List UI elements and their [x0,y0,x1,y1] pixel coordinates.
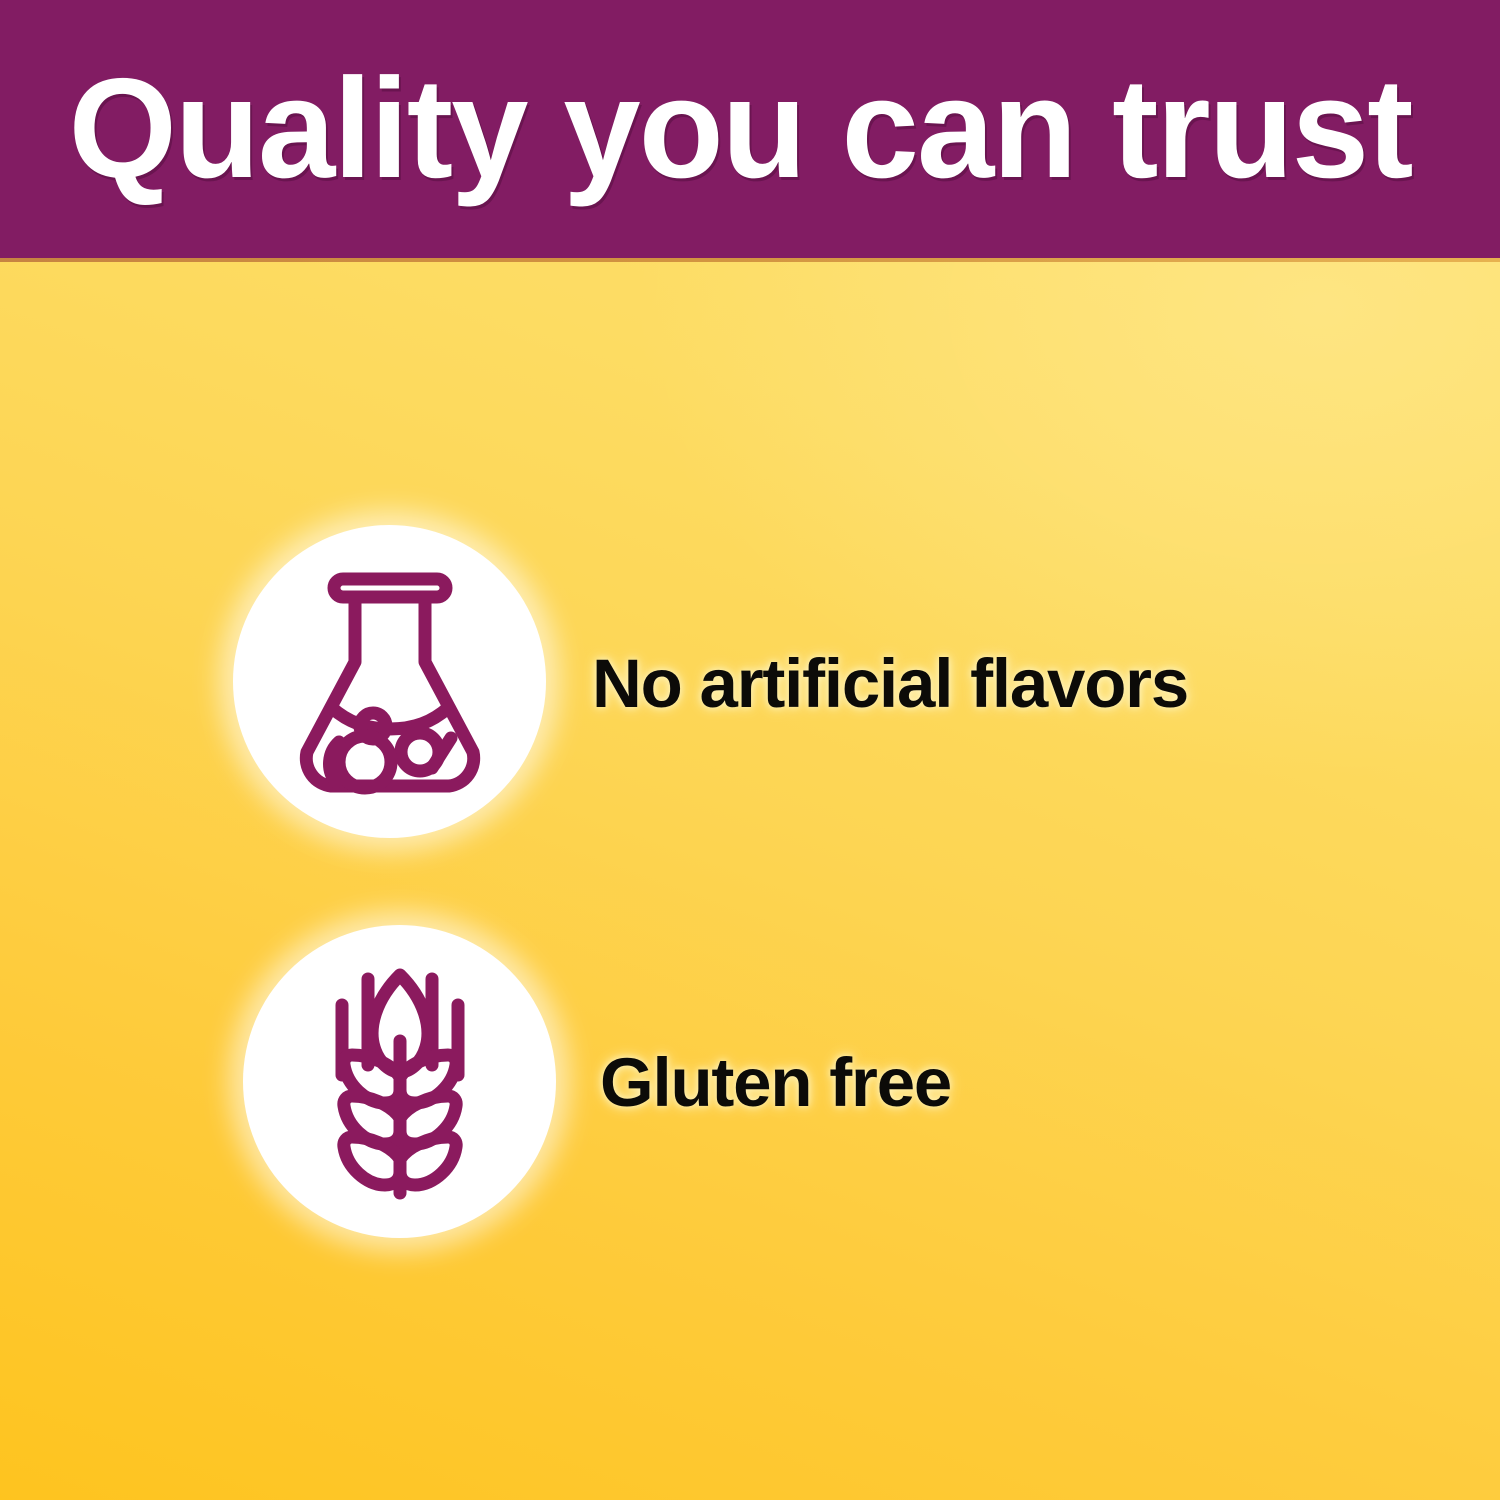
icon-badge [243,925,556,1238]
feature-label: No artificial flavors [592,649,1188,718]
wheat-icon [307,957,493,1207]
flask-icon [285,566,495,798]
quality-claims-poster: Quality you can trust [0,0,1500,1500]
feature-list: No artificial flavors [0,258,1500,1500]
feature-label: Gluten free [600,1048,951,1117]
page-title: Quality you can trust [0,58,1412,200]
feature-item-no-artificial-flavors: No artificial flavors [233,525,1188,838]
header-band: Quality you can trust [0,0,1500,258]
feature-item-gluten-free: Gluten free [243,925,951,1238]
icon-badge [233,525,546,838]
